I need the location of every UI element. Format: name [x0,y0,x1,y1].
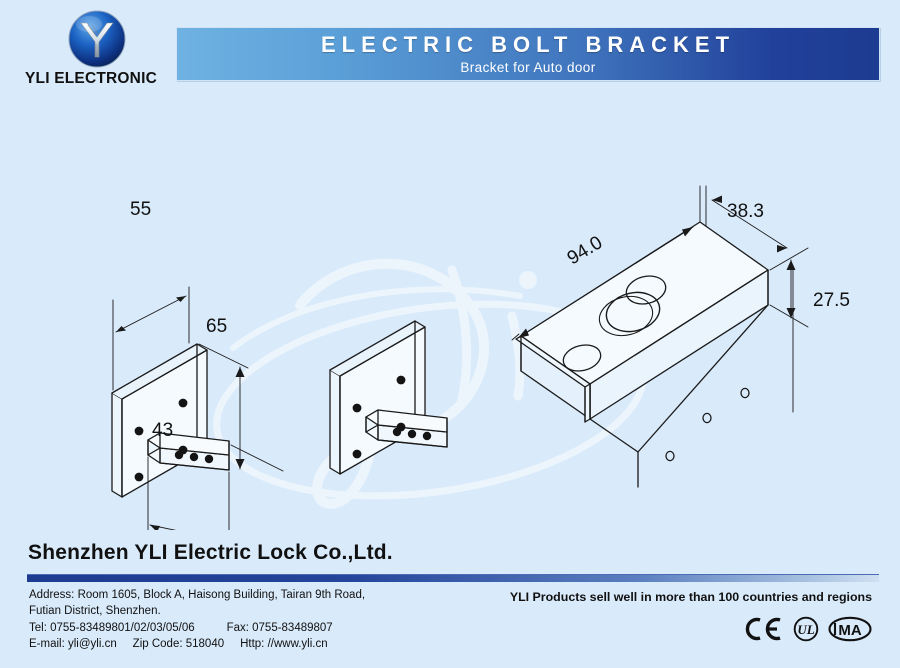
ul-mark-icon: UL [793,616,819,642]
left-bracket-view [112,287,283,530]
drawings-svg: 55 65 43 94.0 38.3 27.5 [0,100,900,530]
footer-divider [27,574,879,582]
phone-fax-line: Tel: 0755-83489801/02/03/05/06 Fax: 0755… [29,620,365,636]
company-name: Shenzhen YLI Electric Lock Co.,Ltd. [28,541,393,565]
marketing-tagline: YLI Products sell well in more than 100 … [510,590,872,604]
contact-block: Address: Room 1605, Block A, Haisong Bui… [29,587,365,653]
certification-marks: UL MA [744,616,872,642]
page-header: YLI ELECTRONIC ELECTRIC BOLT BRACKET Bra… [0,0,900,100]
dimension-43-label: 43 [152,420,173,441]
brand-logo-text: YLI ELECTRONIC [16,70,166,88]
title-banner: ELECTRIC BOLT BRACKET Bracket for Auto d… [176,27,880,81]
technical-drawing-area: 55 65 43 94.0 38.3 27.5 [0,100,900,530]
product-spec-sheet: YLI ELECTRONIC ELECTRIC BOLT BRACKET Bra… [0,0,900,668]
page-footer: Shenzhen YLI Electric Lock Co.,Ltd. Addr… [0,530,900,668]
ima-mark-icon: MA [828,616,872,642]
svg-text:UL: UL [797,622,814,637]
dimension-65-label: 65 [206,316,227,337]
address-line-1: Address: Room 1605, Block A, Haisong Bui… [29,587,365,603]
brand-logo: YLI ELECTRONIC [16,8,166,92]
page-title: ELECTRIC BOLT BRACKET [321,34,735,56]
center-bracket-view [330,321,447,474]
page-subtitle: Bracket for Auto door [460,61,595,75]
yli-logo-badge-icon [68,10,126,68]
right-plate-view [512,186,808,487]
ce-mark-icon [744,616,784,642]
dimension-94-label: 94.0 [564,232,607,269]
dimension-27-label: 27.5 [813,290,850,311]
dimension-38-label: 38.3 [727,201,764,222]
email-zip-web-line: E-mail: yli@yli.cn Zip Code: 518040 Http… [29,636,365,652]
svg-text:MA: MA [838,622,861,639]
dimension-55-label: 55 [130,199,151,220]
address-line-2: Futian District, Shenzhen. [29,603,365,619]
